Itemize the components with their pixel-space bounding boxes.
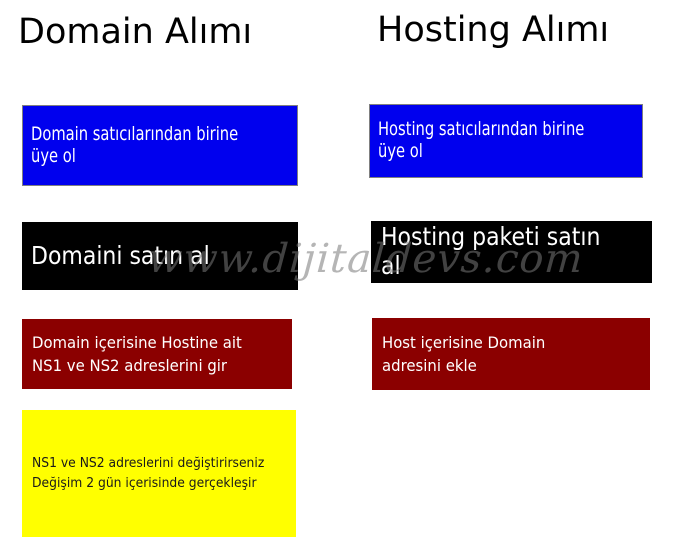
step-label-domain-register: Domain satıcılarından birine üye ol <box>31 124 260 168</box>
step-label-hosting-register: Hosting satıcılarından birine üye ol <box>378 119 605 163</box>
step-box-domain-register: Domain satıcılarından birine üye ol <box>22 105 298 186</box>
step-label-hosting-ns: Host içerisine Domain adresini ekle <box>382 331 545 377</box>
step-label-hosting-buy: Hosting paketi satın al <box>381 223 619 281</box>
column-heading-hosting: Hosting Alımı <box>377 10 609 50</box>
step-box-hosting-register: Hosting satıcılarından birine üye ol <box>369 104 643 178</box>
diagram-canvas: Domain Alımı Hosting Alımı Domain satıcı… <box>0 0 674 555</box>
step-label-domain-warning: NS1 ve NS2 adreslerini değiştirirseniz D… <box>32 454 264 493</box>
step-label-domain-buy: Domaini satın al <box>31 242 210 271</box>
step-box-domain-ns: Domain içerisine Hostine ait NS1 ve NS2 … <box>22 319 292 389</box>
step-box-hosting-ns: Host içerisine Domain adresini ekle <box>372 318 650 390</box>
column-heading-domain: Domain Alımı <box>18 12 252 52</box>
step-label-domain-ns: Domain içerisine Hostine ait NS1 ve NS2 … <box>32 331 242 377</box>
step-box-domain-buy: Domaini satın al <box>22 222 298 290</box>
step-box-domain-warning: NS1 ve NS2 adreslerini değiştirirseniz D… <box>22 410 296 537</box>
step-box-hosting-buy: Hosting paketi satın al <box>371 221 652 283</box>
